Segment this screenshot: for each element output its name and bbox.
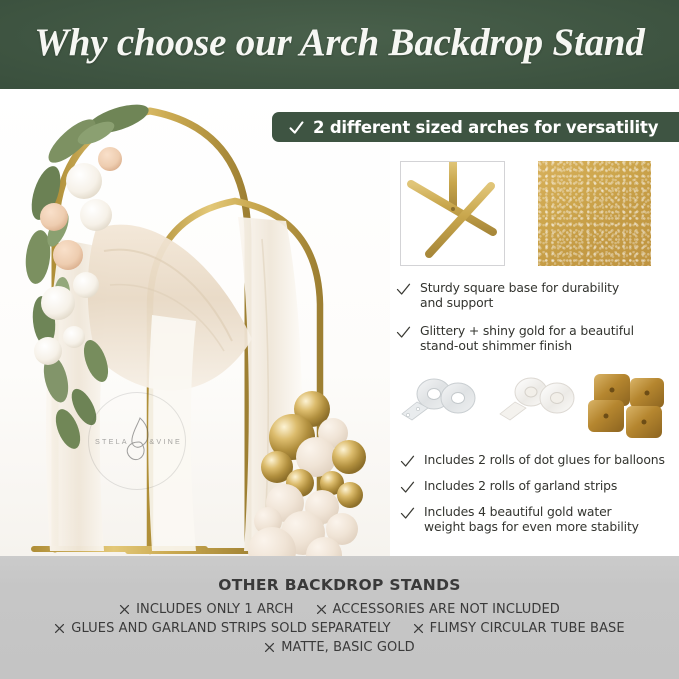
check-icon bbox=[400, 454, 415, 469]
leaf-monogram-icon bbox=[119, 415, 155, 465]
other-stands-item: ACCESSORIES ARE NOT INCLUDED bbox=[316, 602, 560, 617]
x-icon bbox=[54, 623, 65, 634]
other-stands-item: FLIMSY CIRCULAR TUBE BASE bbox=[413, 621, 625, 636]
x-icon bbox=[264, 642, 275, 653]
arch-stand-illustration bbox=[0, 89, 390, 556]
feature-line: and support bbox=[420, 295, 619, 310]
feature-text: Includes 4 beautiful gold water weight b… bbox=[424, 504, 639, 534]
detail-photo-square-base bbox=[400, 161, 505, 266]
x-icon bbox=[413, 623, 424, 634]
feature-text: Includes 2 rolls of garland strips bbox=[424, 478, 617, 493]
gold-water-weight-bags bbox=[588, 374, 664, 438]
accessory-photos bbox=[398, 372, 679, 448]
other-stands-text: GLUES AND GARLAND STRIPS SOLD SEPARATELY bbox=[71, 621, 390, 636]
feature-line: Sturdy square base for durability bbox=[420, 280, 619, 295]
feature-line: Includes 4 beautiful gold water bbox=[424, 504, 639, 519]
other-stands-text: MATTE, BASIC GOLD bbox=[281, 640, 415, 655]
feature-item: Includes 2 rolls of dot glues for balloo… bbox=[400, 452, 672, 469]
check-icon bbox=[396, 282, 411, 297]
x-icon bbox=[316, 604, 327, 615]
feature-list-inclusions: Includes 2 rolls of dot glues for balloo… bbox=[400, 452, 672, 543]
subtitle-banner: 2 different sized arches for versatility bbox=[272, 112, 679, 142]
detail-photo-gold-finish bbox=[538, 161, 651, 266]
other-stands-item: GLUES AND GARLAND STRIPS SOLD SEPARATELY bbox=[54, 621, 390, 636]
feature-item: Sturdy square base for durability and su… bbox=[396, 280, 666, 310]
feature-line: stand-out shimmer finish bbox=[420, 338, 634, 353]
feature-text: Sturdy square base for durability and su… bbox=[420, 280, 619, 310]
feature-list-quality: Sturdy square base for durability and su… bbox=[396, 280, 666, 366]
feature-item: Includes 4 beautiful gold water weight b… bbox=[400, 504, 672, 534]
square-base-illustration bbox=[401, 162, 504, 265]
subtitle-text: 2 different sized arches for versatility bbox=[313, 118, 658, 137]
check-icon bbox=[288, 119, 305, 136]
clear-dot-glue-roll bbox=[402, 379, 475, 420]
other-stands-item: MATTE, BASIC GOLD bbox=[264, 640, 415, 655]
accessory-illustration bbox=[398, 372, 679, 448]
other-stands-list: INCLUDES ONLY 1 ARCH ACCESSORIES ARE NOT… bbox=[0, 602, 679, 659]
feature-item: Includes 2 rolls of garland strips bbox=[400, 478, 672, 495]
feature-line: Glittery + shiny gold for a beautiful bbox=[420, 323, 634, 338]
other-stands-text: FLIMSY CIRCULAR TUBE BASE bbox=[430, 621, 625, 636]
other-stands-section: OTHER BACKDROP STANDS INCLUDES ONLY 1 AR… bbox=[0, 556, 679, 679]
feature-line: Includes 2 rolls of garland strips bbox=[424, 478, 617, 493]
header-banner: Why choose our Arch Backdrop Stand bbox=[0, 0, 679, 89]
other-stands-item: INCLUDES ONLY 1 ARCH bbox=[119, 602, 293, 617]
x-icon bbox=[119, 604, 130, 615]
feature-text: Includes 2 rolls of dot glues for balloo… bbox=[424, 452, 665, 467]
other-stands-text: ACCESSORIES ARE NOT INCLUDED bbox=[333, 602, 560, 617]
feature-item: Glittery + shiny gold for a beautiful st… bbox=[396, 323, 666, 353]
brand-watermark: STELA &VINE bbox=[88, 392, 186, 490]
product-infographic: Why choose our Arch Backdrop Stand bbox=[0, 0, 679, 679]
check-icon bbox=[396, 325, 411, 340]
check-icon bbox=[400, 506, 415, 521]
other-stands-row: MATTE, BASIC GOLD bbox=[0, 640, 679, 655]
other-stands-text: INCLUDES ONLY 1 ARCH bbox=[136, 602, 293, 617]
feature-text: Glittery + shiny gold for a beautiful st… bbox=[420, 323, 634, 353]
white-garland-strip-roll bbox=[500, 378, 574, 420]
other-stands-title: OTHER BACKDROP STANDS bbox=[0, 576, 679, 594]
product-photo-main: STELA &VINE bbox=[0, 89, 390, 556]
feature-line: weight bags for even more stability bbox=[424, 519, 639, 534]
page-title: Why choose our Arch Backdrop Stand bbox=[0, 20, 679, 65]
feature-line: Includes 2 rolls of dot glues for balloo… bbox=[424, 452, 665, 467]
other-stands-row: GLUES AND GARLAND STRIPS SOLD SEPARATELY… bbox=[0, 621, 679, 636]
check-icon bbox=[400, 480, 415, 495]
other-stands-row: INCLUDES ONLY 1 ARCH ACCESSORIES ARE NOT… bbox=[0, 602, 679, 617]
